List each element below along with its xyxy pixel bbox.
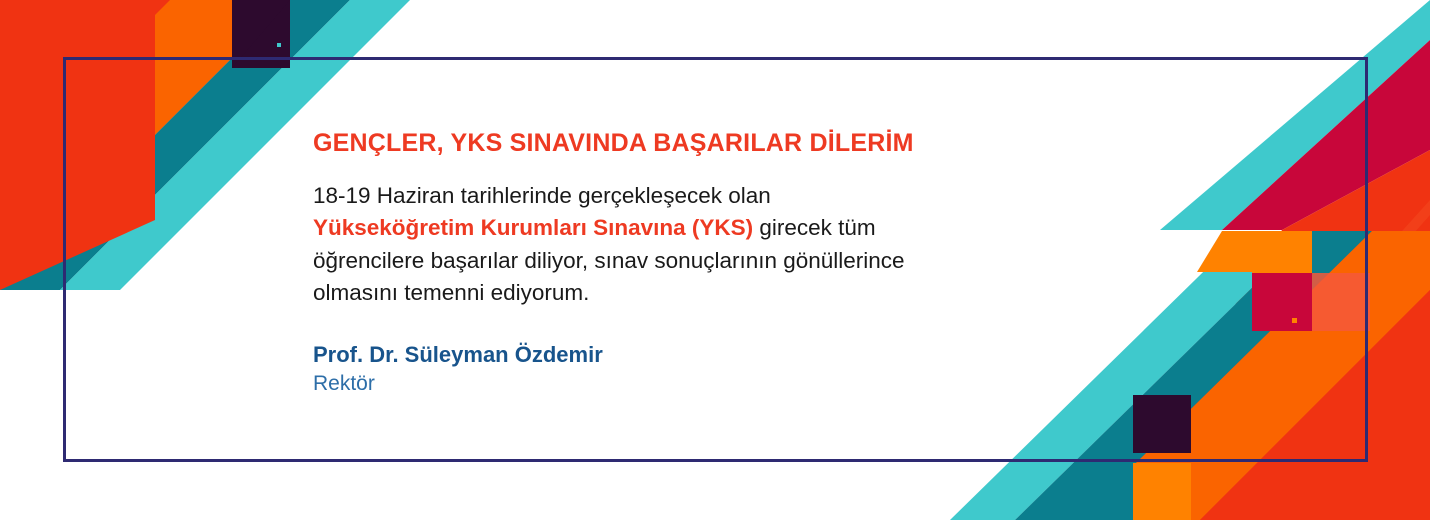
signature-name: Prof. Dr. Süleyman Özdemir	[313, 340, 1113, 370]
signature-title: Rektör	[313, 370, 1113, 398]
paragraph-line-3: öğrencilere başarılar diliyor, sınav son…	[313, 248, 905, 273]
paragraph-line-4: olmasını temenni ediyorum.	[313, 280, 589, 305]
tl-cyan-dot	[277, 43, 281, 47]
paragraph-highlight-exam-name: Yükseköğretim Kurumları Sınavına (YKS)	[313, 215, 753, 240]
message-content: GENÇLER, YKS SINAVINDA BAŞARILAR DİLERİM…	[313, 130, 1113, 398]
page-title: GENÇLER, YKS SINAVINDA BAŞARILAR DİLERİM	[313, 130, 1113, 158]
yks-congratulations-banner: GENÇLER, YKS SINAVINDA BAŞARILAR DİLERİM…	[0, 0, 1430, 520]
br-orange-square-lower	[1133, 463, 1191, 520]
paragraph-line-2-rest: girecek tüm	[753, 215, 876, 240]
paragraph-line-1: 18-19 Haziran tarihlerinde gerçekleşecek…	[313, 183, 771, 208]
message-paragraph: 18-19 Haziran tarihlerinde gerçekleşecek…	[313, 180, 1113, 311]
br-teal-square-lower	[1073, 463, 1133, 520]
br-orange-square-dot	[1113, 495, 1118, 500]
signature-block: Prof. Dr. Süleyman Özdemir Rektör	[313, 340, 1113, 398]
